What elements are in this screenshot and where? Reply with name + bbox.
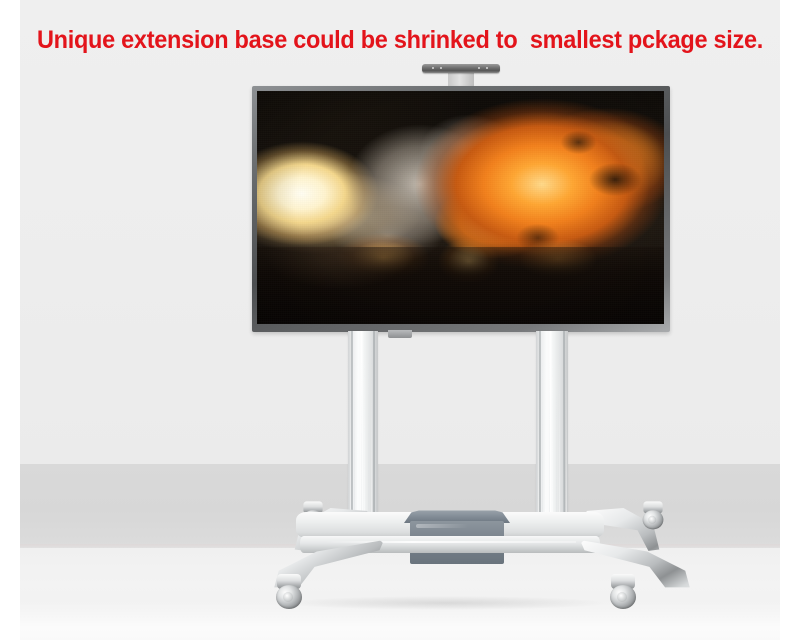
product-image: Unique extension base could be shrinked … (0, 0, 800, 640)
screen-image-explosion (257, 91, 664, 324)
stand-column-left (348, 331, 378, 535)
screen-layer-grain (257, 91, 664, 324)
tv-screen (257, 91, 664, 324)
caption-text: Unique extension base could be shrinked … (24, 26, 776, 55)
soundbar-icon (422, 64, 500, 73)
caster-wheel-front-right (608, 574, 638, 608)
base-contact-shadow (288, 596, 604, 610)
television (252, 86, 670, 332)
stand-column-right (536, 331, 568, 535)
tv-mount-tab (388, 330, 412, 338)
caster-wheel-back-right (641, 501, 665, 528)
